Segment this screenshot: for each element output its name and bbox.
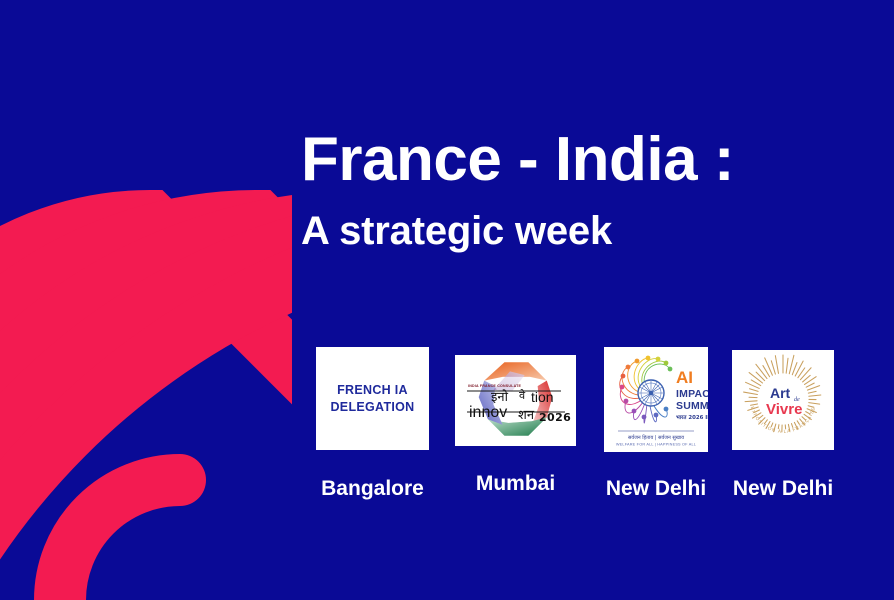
ai-impact-summit-summit: SUMMIT bbox=[676, 400, 708, 412]
event-item-new-delhi-art-de-vivre[interactable]: EXPOSITION À LA FRANÇAISE Art de Vivre N… bbox=[732, 347, 834, 501]
event-logo-row: FRENCH IA DELEGATION Bangalore bbox=[316, 347, 834, 501]
innovation-logo-devanagari-mid: वे bbox=[519, 389, 526, 402]
ai-impact-summit-logo[interactable]: AI IMPACT SUMMIT भारत 2026 INDIA सर्वजन … bbox=[604, 347, 708, 452]
ai-impact-summit-motto-devanagari: सर्वजन हिताय | सर्वजन सुखाय bbox=[628, 434, 684, 441]
ashoka-chakra-icon bbox=[638, 380, 664, 406]
art-de-vivre-art: Art bbox=[770, 385, 791, 401]
innovation-logo-devanagari-bottom: शन bbox=[518, 408, 535, 423]
event-item-bangalore[interactable]: FRENCH IA DELEGATION Bangalore bbox=[316, 347, 429, 501]
ai-impact-summit-impact: IMPACT bbox=[676, 388, 708, 400]
innovation-logo-latin-suffix: tion bbox=[531, 389, 554, 405]
french-ia-delegation-line2: DELEGATION bbox=[330, 399, 414, 416]
art-de-vivre-vivre: Vivre bbox=[766, 401, 802, 418]
city-label-new-delhi-ai-summit: New Delhi bbox=[606, 477, 706, 501]
french-ia-delegation-logo[interactable]: FRENCH IA DELEGATION bbox=[316, 347, 429, 450]
innovation-logo-latin-word: innov bbox=[469, 404, 507, 421]
ai-impact-summit-ai: AI bbox=[676, 368, 693, 387]
ai-impact-summit-locale: भारत 2026 INDIA bbox=[676, 415, 708, 421]
city-label-new-delhi-art-de-vivre: New Delhi bbox=[733, 477, 833, 501]
art-de-vivre-logo[interactable]: EXPOSITION À LA FRANÇAISE Art de Vivre bbox=[732, 350, 834, 450]
innovation-logo-kicker: INDIA FRANCE CONSULATE bbox=[468, 384, 522, 388]
ai-impact-summit-motto-latin: WELFARE FOR ALL | HAPPINESS OF ALL bbox=[616, 443, 696, 447]
french-ia-delegation-line1: FRENCH IA bbox=[330, 382, 414, 399]
innovation-2026-logo[interactable]: INDIA FRANCE CONSULATE इनो वे tion innov… bbox=[455, 355, 576, 446]
headline-block: France - India : A strategic week bbox=[301, 125, 861, 255]
city-label-mumbai: Mumbai bbox=[476, 472, 555, 496]
event-item-mumbai[interactable]: INDIA FRANCE CONSULATE इनो वे tion innov… bbox=[455, 347, 576, 496]
poster-canvas: France - India : A strategic week FRENCH… bbox=[0, 0, 894, 600]
event-item-new-delhi-ai-summit[interactable]: AI IMPACT SUMMIT भारत 2026 INDIA सर्वजन … bbox=[604, 347, 708, 501]
innovation-logo-devanagari-top: इनो bbox=[491, 389, 509, 405]
city-label-bangalore: Bangalore bbox=[321, 477, 424, 501]
page-title: France - India : bbox=[301, 125, 861, 195]
page-subtitle: A strategic week bbox=[301, 207, 861, 255]
fingerprint-spiral-graphic bbox=[0, 0, 292, 600]
innovation-logo-year: 2026 bbox=[539, 411, 571, 424]
